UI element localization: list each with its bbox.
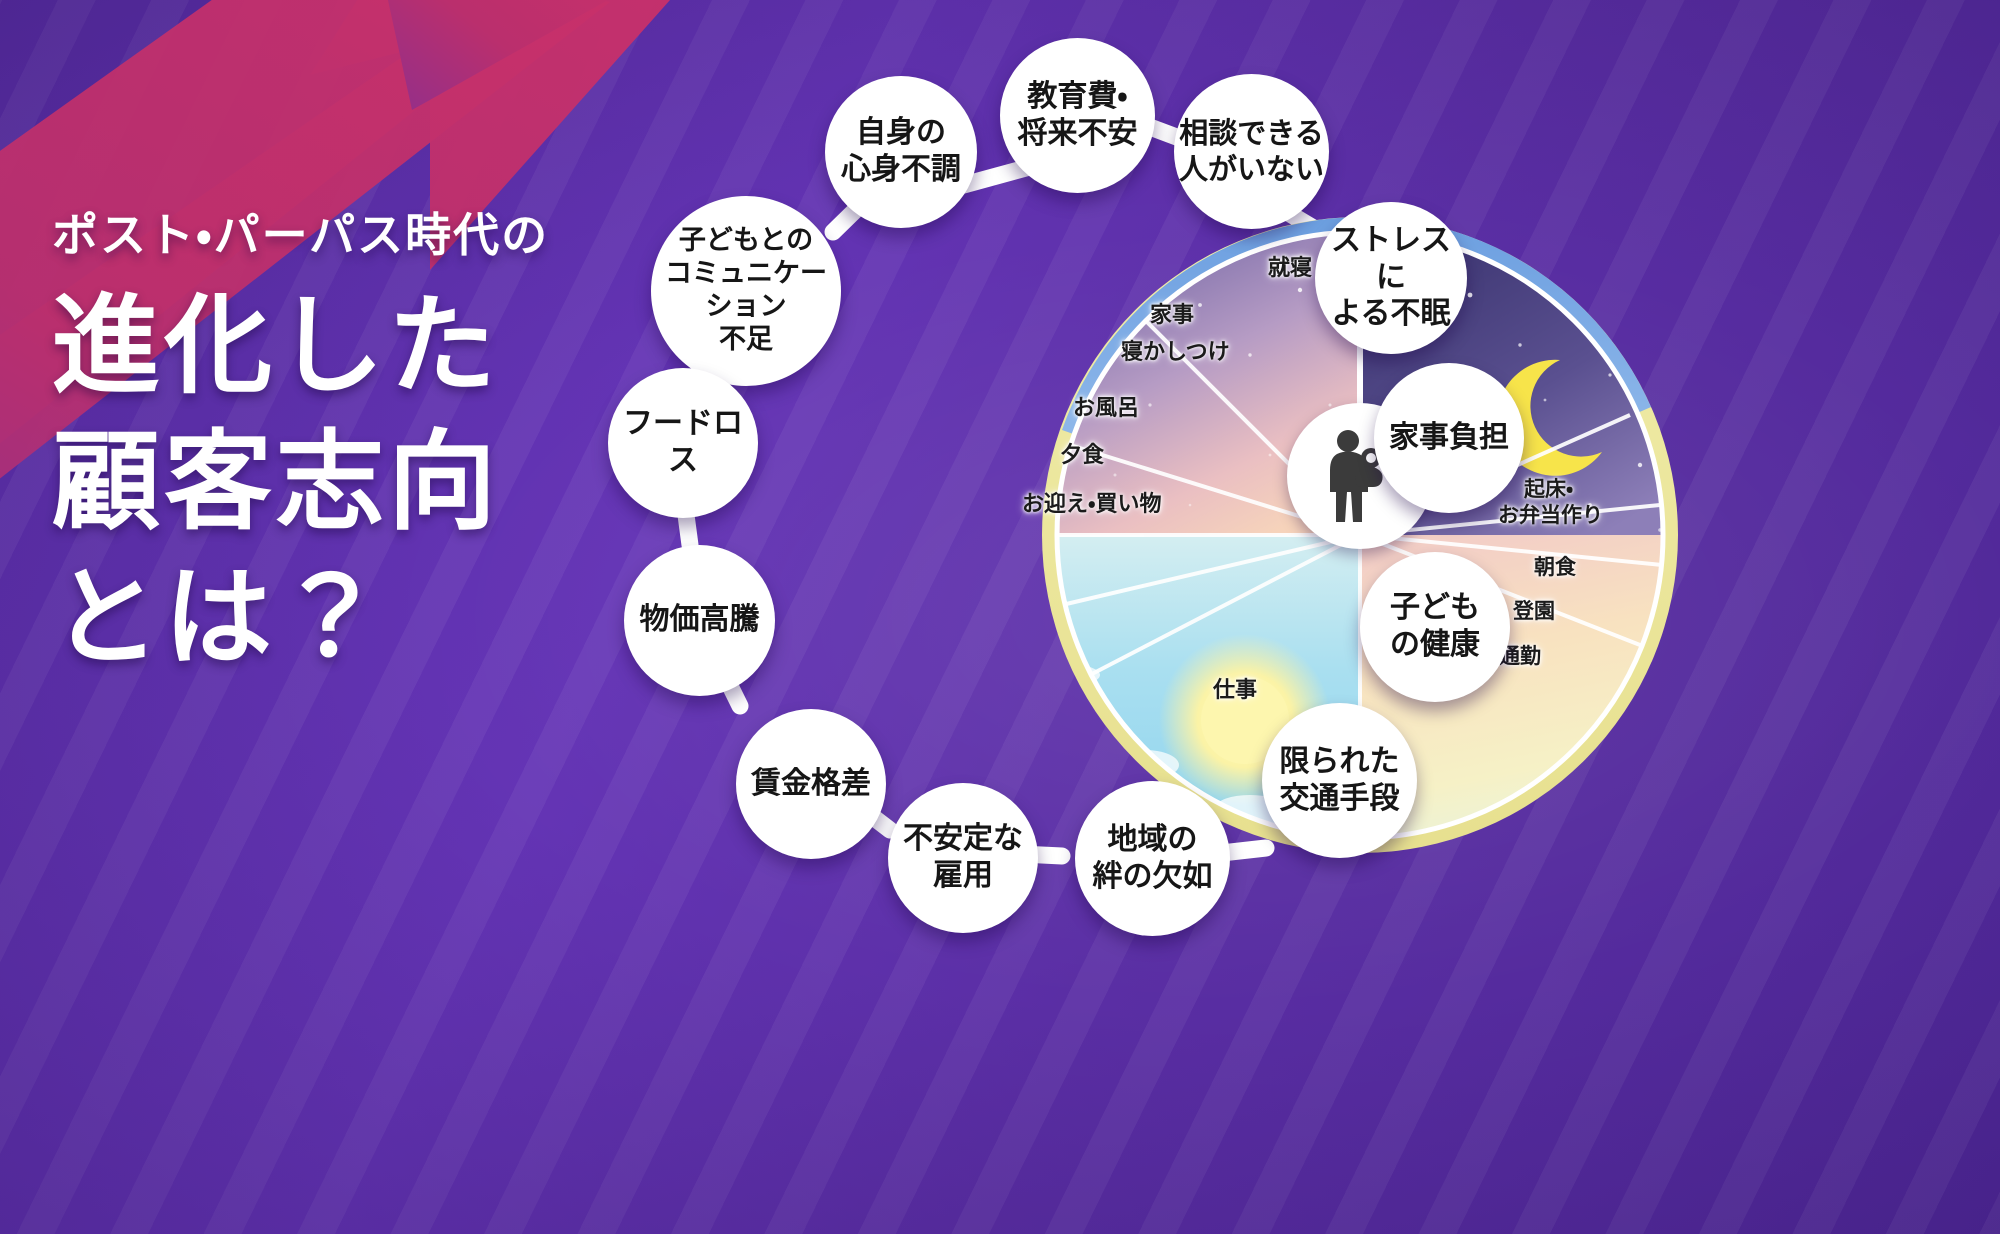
bubble-label-line: 人がいない xyxy=(1179,152,1324,187)
bubble-label-line: フードロス xyxy=(612,406,754,479)
bubble-wage-gap[interactable]: 賃金格差 xyxy=(736,709,886,859)
bubble-label-line: の健康 xyxy=(1390,627,1480,664)
bubble-label-line: 雇用 xyxy=(903,858,1023,895)
bubble-lack-of-community-bonds[interactable]: 地域の絆の欠如 xyxy=(1075,781,1230,936)
issue-bubbles: 教育費・将来不安自身の心身不調相談できる人がいない子どもとのコミュニケーション不… xyxy=(0,0,2000,1234)
poster-canvas: ポスト・パーパス時代の 進化した 顧客志向 とは？ xyxy=(0,0,2000,1234)
bubble-food-loss[interactable]: フードロス xyxy=(608,368,758,518)
bubble-label-line: 賃金格差 xyxy=(751,766,871,803)
bubble-label-line: 心身不調 xyxy=(841,152,961,189)
bubble-stress-insomnia[interactable]: ストレスによる不眠 xyxy=(1315,202,1467,354)
bubble-label-line: 子ども xyxy=(1390,590,1480,627)
bubble-label: 不安定な雇用 xyxy=(903,821,1023,894)
bubble-kids-communication-lack[interactable]: 子どもとのコミュニケーション不足 xyxy=(651,196,841,386)
bubble-label: フードロス xyxy=(612,406,754,479)
bubble-label: 自身の心身不調 xyxy=(841,115,961,188)
bubble-label-line: 相談できる xyxy=(1179,116,1324,151)
bubble-label: 子どもの健康 xyxy=(1390,590,1480,663)
bubble-label: 限られた交通手段 xyxy=(1280,744,1400,817)
bubble-limited-transport[interactable]: 限られた交通手段 xyxy=(1262,703,1417,858)
bubble-label-line: よる不眠 xyxy=(1319,296,1463,333)
bubble-label: ストレスによる不眠 xyxy=(1319,223,1463,333)
bubble-label-line: 家事負担 xyxy=(1389,420,1509,457)
bubble-label-line: 物価高騰 xyxy=(640,602,760,639)
bubble-label: 教育費・将来不安 xyxy=(1018,79,1138,152)
bubble-label: 地域の絆の欠如 xyxy=(1093,822,1213,895)
bubble-price-inflation[interactable]: 物価高騰 xyxy=(624,545,775,696)
bubble-no-one-to-consult[interactable]: 相談できる人がいない xyxy=(1174,74,1329,229)
bubble-label: 物価高騰 xyxy=(640,602,760,639)
bubble-label: 家事負担 xyxy=(1389,420,1509,457)
bubble-label-line: 子どもとの xyxy=(655,225,837,258)
bubble-label-line: 絆の欠如 xyxy=(1093,859,1213,896)
bubble-label-line: 限られた xyxy=(1280,744,1400,781)
bubble-label: 賃金格差 xyxy=(751,766,871,803)
bubble-label: 相談できる人がいない xyxy=(1179,116,1324,187)
bubble-label-line: 不足 xyxy=(655,324,837,357)
bubble-label-line: 交通手段 xyxy=(1280,781,1400,818)
bubble-label-line: 不安定な xyxy=(903,821,1023,858)
bubble-unstable-employment[interactable]: 不安定な雇用 xyxy=(888,783,1038,933)
bubble-label-line: 自身の xyxy=(841,115,961,152)
bubble-label-line: コミュニケーション xyxy=(655,258,837,324)
bubble-label-line: ストレスに xyxy=(1319,223,1463,296)
bubble-label-line: 地域の xyxy=(1093,822,1213,859)
bubble-education-cost-anxiety[interactable]: 教育費・将来不安 xyxy=(1000,38,1155,193)
bubble-label: 子どもとのコミュニケーション不足 xyxy=(655,225,837,357)
bubble-label-line: 将来不安 xyxy=(1018,116,1138,153)
bubble-own-physical-mental[interactable]: 自身の心身不調 xyxy=(825,76,977,228)
bubble-label-line: 教育費・ xyxy=(1018,79,1138,116)
bubble-housework-burden[interactable]: 家事負担 xyxy=(1374,363,1524,513)
bubble-child-health[interactable]: 子どもの健康 xyxy=(1360,552,1510,702)
